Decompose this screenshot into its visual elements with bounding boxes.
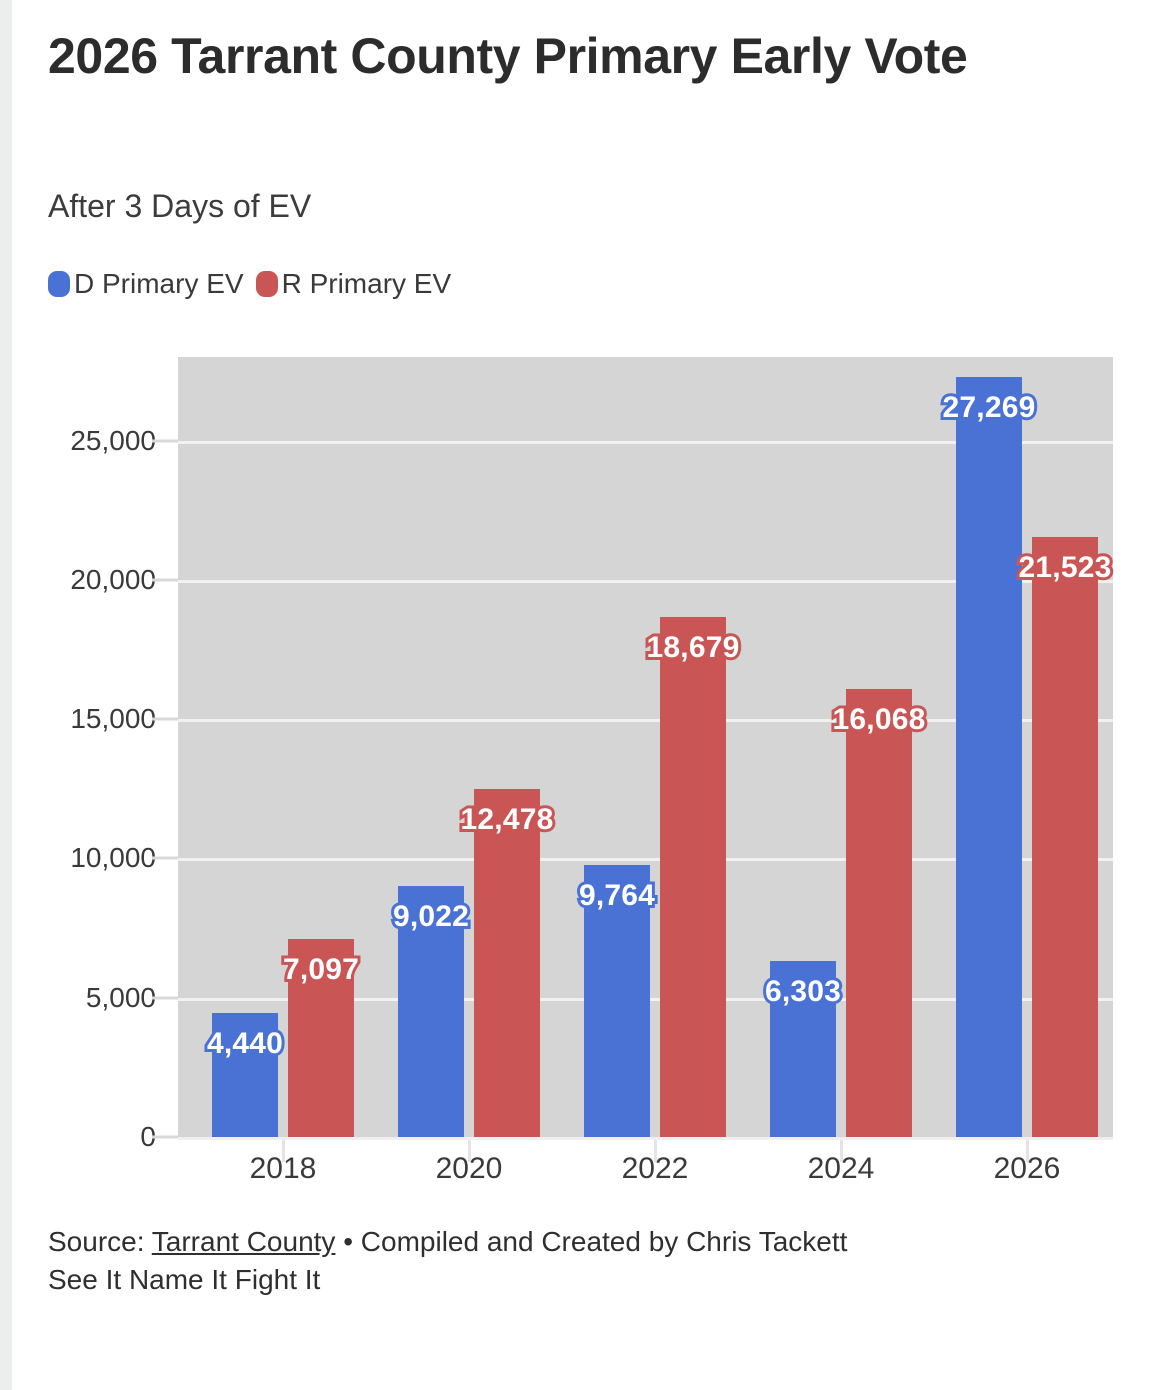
y-axis-tick-label: 15,000 [70, 703, 156, 735]
y-axis-tick-label: 5,000 [86, 982, 156, 1014]
source-link[interactable]: Tarrant County [152, 1226, 336, 1257]
y-axis-tick-label: 20,000 [70, 564, 156, 596]
chart-card: 2026 Tarrant County Primary Early Vote A… [12, 0, 1160, 1390]
bar-value-label: 12,478 [461, 803, 554, 837]
footer-tagline: See It Name It Fight It [48, 1264, 320, 1296]
bar-chart: 05,00010,00015,00020,00025,000 201820202… [12, 0, 1160, 1390]
y-axis-tick-mark [152, 996, 178, 999]
y-axis-tick-mark [152, 1136, 178, 1139]
x-axis-tick-label: 2022 [622, 1152, 689, 1186]
source-prefix: Source: [48, 1226, 152, 1257]
bar-value-label: 4,440 [207, 1027, 283, 1061]
bar[interactable] [1032, 537, 1098, 1137]
bar[interactable] [846, 689, 912, 1137]
y-axis-tick-mark [152, 439, 178, 442]
bar-value-label: 18,679 [647, 631, 740, 665]
y-axis-tick-label: 25,000 [70, 425, 156, 457]
y-axis-tick-mark [152, 578, 178, 581]
chart-page: 2026 Tarrant County Primary Early Vote A… [0, 0, 1160, 1390]
bar-value-label: 16,068 [833, 703, 926, 737]
y-axis-tick-mark [152, 857, 178, 860]
x-axis-tick-label: 2018 [250, 1152, 317, 1186]
y-axis-tick-label: 10,000 [70, 842, 156, 874]
credit-text: • Compiled and Created by Chris Tackett [335, 1226, 847, 1257]
bar-value-label: 27,269 [943, 391, 1036, 425]
bar-value-label: 6,303 [765, 975, 841, 1009]
footer-credit: Source: Tarrant County • Compiled and Cr… [48, 1222, 847, 1263]
y-axis-tick-mark [152, 718, 178, 721]
bar-value-label: 7,097 [283, 953, 359, 987]
bar[interactable] [474, 789, 540, 1137]
bar[interactable] [956, 377, 1022, 1137]
bar[interactable] [660, 617, 726, 1137]
x-axis-line [178, 1137, 1113, 1140]
bar-value-label: 21,523 [1019, 551, 1112, 585]
x-axis-tick-label: 2024 [808, 1152, 875, 1186]
bar-value-label: 9,022 [393, 900, 469, 934]
x-axis-tick-label: 2026 [994, 1152, 1061, 1186]
bar-value-label: 9,764 [579, 879, 655, 913]
x-axis-tick-label: 2020 [436, 1152, 503, 1186]
